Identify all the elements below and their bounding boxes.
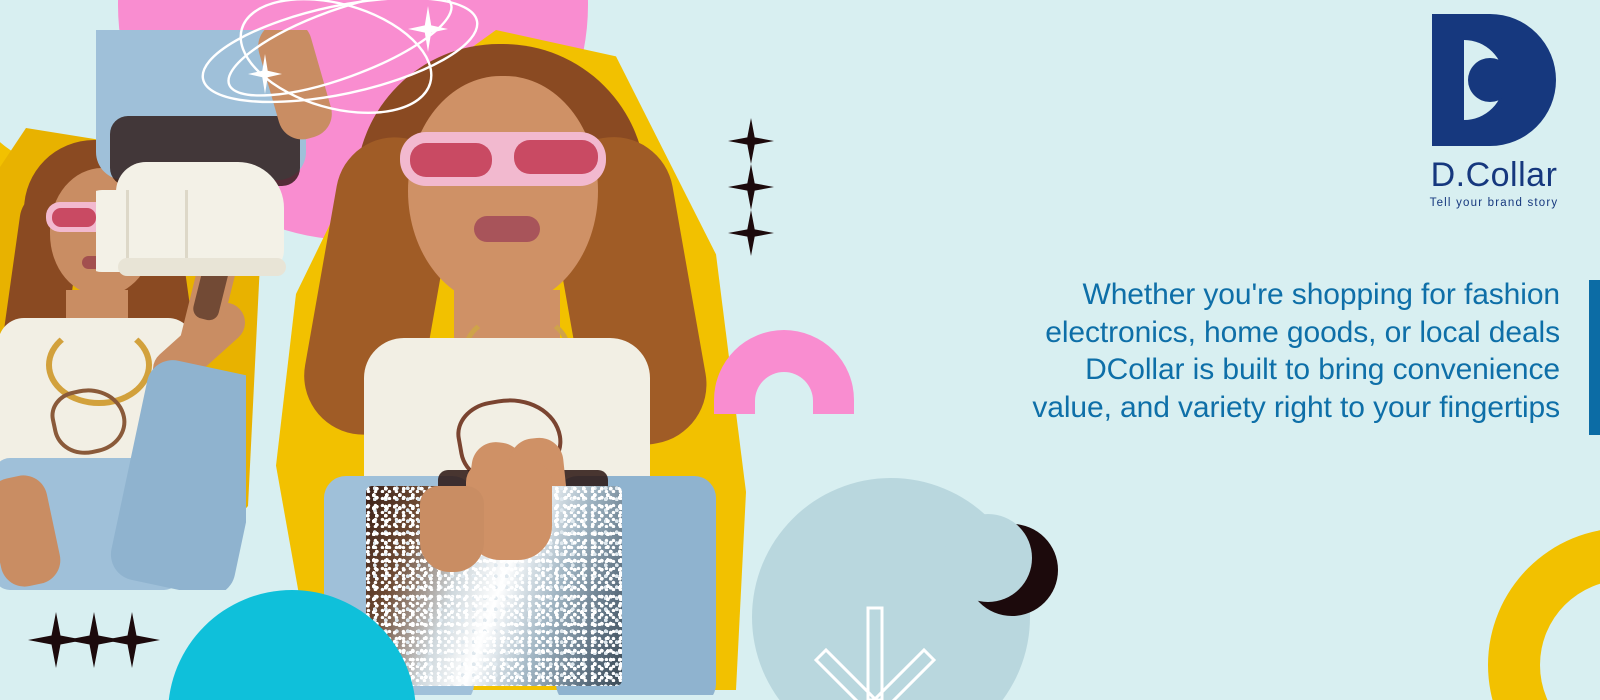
hand-on-bag-2 (420, 486, 484, 572)
headline-line-3: DCollar is built to bring convenience (900, 351, 1560, 389)
white-swirl-lines (190, 0, 490, 124)
brand-logo[interactable]: D.Collar Tell your brand story (1410, 8, 1578, 213)
logo-wordmark: D.Collar (1410, 158, 1578, 192)
headline-line-4: value, and variety right to your fingert… (900, 389, 1560, 427)
headline-line-1: Whether you're shopping for fashion (900, 276, 1560, 314)
headline-line-2: electronics, home goods, or local deals (900, 314, 1560, 352)
crescent-moon-cutout (944, 514, 1032, 602)
yellow-quarter-arc-icon-2 (1488, 528, 1600, 700)
promo-banner: D.Collar Tell your brand story Whether y… (0, 0, 1600, 700)
down-arrow-outline-icon (808, 604, 940, 700)
headline-copy: Whether you're shopping for fashion elec… (900, 276, 1560, 426)
blue-vertical-bar (1589, 280, 1600, 435)
logo-tagline: Tell your brand story (1410, 197, 1578, 209)
d-collar-logo-icon (1422, 8, 1566, 156)
